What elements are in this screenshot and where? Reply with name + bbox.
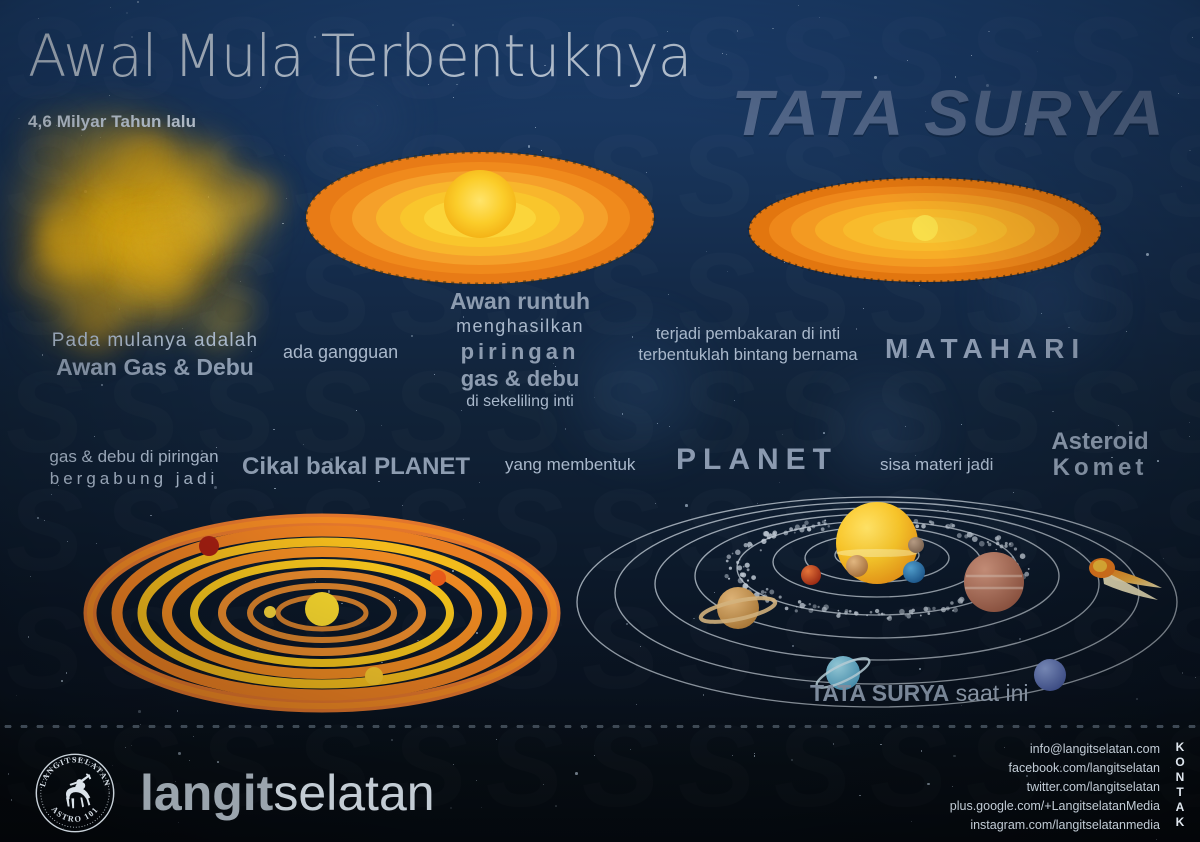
caption-stage-3-line-2: menghasilkan: [420, 316, 620, 337]
page-title: Awal Mula Terbentuknya: [28, 22, 691, 90]
jupiter: [964, 552, 1024, 612]
mercury: [908, 537, 924, 553]
caption-modern-solar-system: TATA SURYA saat ini: [810, 680, 1029, 707]
page-subtitle: 4,6 Milyar Tahun lalu: [28, 112, 196, 132]
modern-label-thin: saat ini: [956, 680, 1029, 706]
tata-surya-heading: TATA SURYA: [731, 76, 1166, 150]
infographic-page: Awal Mula Terbentuknya 4,6 Milyar Tahun …: [0, 0, 1200, 842]
kontak-label: KONTAK: [1173, 740, 1186, 830]
langitselatan-seal-logo: LANGITSELATAN ASTRO 101: [30, 748, 120, 838]
protoplanetary-disk-art-2: [745, 172, 1105, 292]
label-asteroid: Asteroid: [1020, 428, 1180, 456]
protoplanetary-disk-art-1: [300, 140, 660, 300]
brand-thin: selatan: [273, 765, 434, 821]
caption-stage-1-line-1: Pada mulanya adalah: [30, 330, 280, 352]
caption-stage-2: ada gangguan: [283, 342, 398, 363]
venus: [846, 555, 868, 577]
caption-stage-1: Pada mulanya adalah Awan Gas & Debu: [30, 330, 280, 382]
seal-bottom-text: ASTRO 101: [50, 805, 101, 824]
centaur-emblem-icon: [66, 773, 91, 808]
caption-stage-6: Cikal bakal PLANET: [242, 453, 470, 481]
caption-stage-3: Awan runtuh menghasilkan piringan gas & …: [420, 288, 620, 412]
gas-dust-cloud-art: [10, 118, 260, 333]
contact-email[interactable]: info@langitselatan.com: [950, 740, 1160, 759]
contact-googleplus[interactable]: plus.google.com/+LangitselatanMedia: [950, 797, 1160, 816]
caption-stage-3-line-5: di sekeliling inti: [420, 393, 620, 412]
modern-label-bold: TATA SURYA: [810, 680, 949, 706]
svg-text:ASTRO 101: ASTRO 101: [50, 805, 101, 824]
caption-stage-8: sisa materi jadi: [880, 455, 993, 475]
contact-facebook[interactable]: facebook.com/langitselatan: [950, 759, 1160, 778]
caption-stage-2-text: ada gangguan: [283, 342, 398, 362]
brand-bold: langit: [140, 765, 273, 821]
caption-stage-4: terjadi pembakaran di inti terbentuklah …: [628, 325, 868, 366]
caption-stage-3-line-4: gas & debu: [420, 366, 620, 392]
contact-instagram[interactable]: instagram.com/langitselatanmedia: [950, 816, 1160, 835]
caption-stage-3-line-1: Awan runtuh: [420, 288, 620, 315]
contact-twitter[interactable]: twitter.com/langitselatan: [950, 778, 1160, 797]
neptune: [1034, 659, 1066, 691]
early-solar-system-art: [60, 505, 580, 715]
earth: [903, 561, 925, 583]
caption-stage-1-line-2: Awan Gas & Debu: [30, 354, 280, 381]
brand-wordmark: langitselatan: [140, 768, 435, 818]
caption-planet-label: PLANET: [676, 442, 838, 477]
caption-stage-4-line-1: terjadi pembakaran di inti: [628, 325, 868, 344]
caption-stage-5: gas & debu di piringan bergabung jadi: [28, 447, 240, 489]
contact-list: info@langitselatan.com facebook.com/lang…: [950, 740, 1160, 835]
caption-matahari-label: MATAHARI: [885, 332, 1086, 365]
caption-stage-5-line-2: bergabung jadi: [28, 469, 240, 489]
caption-stage-4-line-2: terbentuklah bintang bernama: [628, 346, 868, 365]
label-komet: Komet: [1020, 454, 1180, 482]
caption-stage-7: yang membentuk: [505, 455, 635, 475]
footer: LANGITSELATAN ASTRO 101 langitselatan: [0, 726, 1200, 842]
mars: [801, 565, 821, 585]
caption-stage-3-line-3: piringan: [420, 339, 620, 365]
caption-stage-5-line-1: gas & debu di piringan: [28, 447, 240, 467]
caption-asteroid-komet-label: Asteroid Komet: [1020, 428, 1180, 483]
